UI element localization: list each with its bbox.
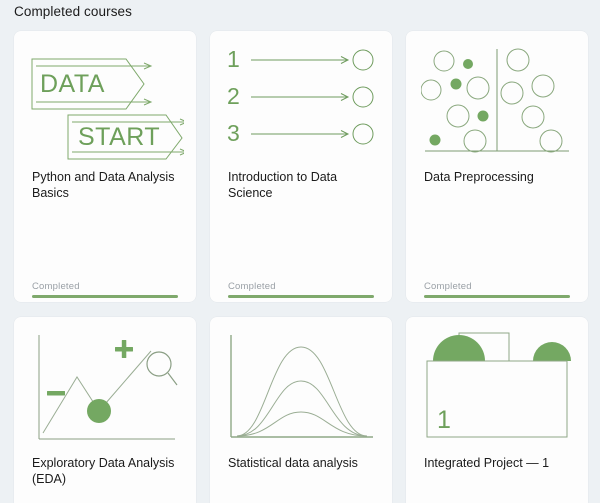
course-card-exploratory-data-analysis[interactable]: Exploratory Data Analysis (EDA): [14, 317, 196, 503]
course-title: Integrated Project — 1: [406, 455, 588, 471]
project-box-icon: 1: [406, 317, 588, 449]
progress-bar: [424, 295, 570, 298]
status-badge: Completed: [32, 281, 178, 292]
progress-bar: [32, 295, 178, 298]
card-footer: Completed: [406, 281, 588, 302]
course-title: Exploratory Data Analysis (EDA): [14, 455, 196, 487]
numbered-steps-icon: 123: [210, 31, 392, 163]
gaussian-curves-icon: [210, 317, 392, 449]
completed-courses-page: Completed courses DATA STAR: [0, 0, 600, 503]
line-chart-magnifier-icon: [14, 317, 196, 449]
course-title: Statistical data analysis: [210, 455, 392, 471]
course-card-python-and-data-analysis-basics[interactable]: DATA START Python and Data Analysis Basi…: [14, 31, 196, 302]
card-footer: Completed: [210, 281, 392, 302]
course-card-data-preprocessing[interactable]: Data Preprocessing Completed: [406, 31, 588, 302]
svg-text:DATA: DATA: [40, 70, 105, 98]
data-start-arrows-icon: DATA START: [14, 31, 196, 163]
course-title: Python and Data Analysis Basics: [14, 169, 196, 201]
course-card-grid: DATA START Python and Data Analysis Basi…: [14, 31, 590, 503]
scatter-split-icon: [406, 31, 588, 163]
svg-text:3: 3: [227, 120, 240, 146]
status-badge: Completed: [228, 281, 374, 292]
svg-text:1: 1: [437, 406, 451, 434]
course-title: Data Preprocessing: [406, 169, 588, 185]
card-footer: Completed: [14, 281, 196, 302]
page-title: Completed courses: [14, 4, 132, 19]
svg-text:1: 1: [227, 46, 240, 72]
course-card-integrated-project-1[interactable]: 1 Integrated Project — 1: [406, 317, 588, 503]
progress-bar: [228, 295, 374, 298]
svg-text:2: 2: [227, 83, 240, 109]
status-badge: Completed: [424, 281, 570, 292]
course-title: Introduction to Data Science: [210, 169, 392, 201]
svg-text:START: START: [78, 123, 160, 151]
course-card-introduction-to-data-science[interactable]: 123 Introduction to Data Science Complet…: [210, 31, 392, 302]
course-card-statistical-data-analysis[interactable]: Statistical data analysis: [210, 317, 392, 503]
